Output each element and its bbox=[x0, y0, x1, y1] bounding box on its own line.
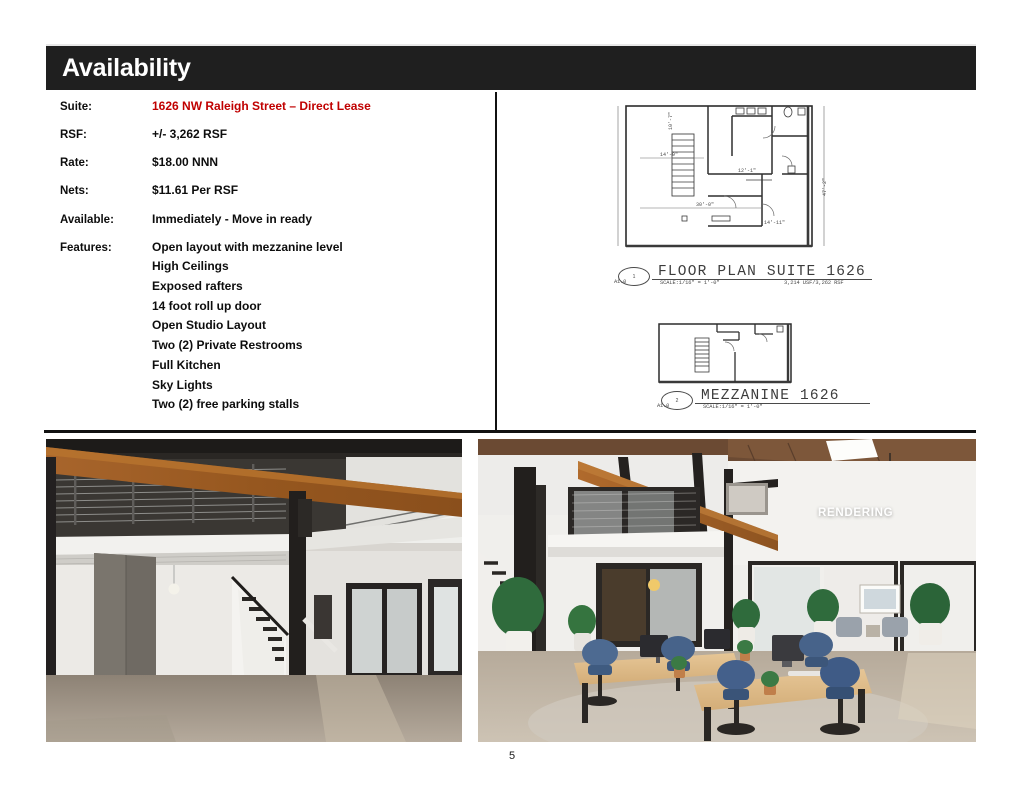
feature-item: 14 foot roll up door bbox=[152, 300, 343, 313]
spec-value-nets: $11.61 Per RSF bbox=[152, 184, 238, 197]
spec-row-rsf: RSF: +/- 3,262 RSF bbox=[60, 128, 480, 142]
spec-value-rate: $18.00 NNN bbox=[152, 156, 218, 169]
svg-text:14'-11": 14'-11" bbox=[764, 220, 785, 226]
floor-plan-scale: SCALE:1/16" = 1'-0" bbox=[660, 280, 720, 286]
spec-label-available: Available: bbox=[60, 213, 152, 227]
interior-photo bbox=[46, 439, 462, 742]
office-rendering-image bbox=[478, 439, 976, 742]
feature-item: Full Kitchen bbox=[152, 359, 343, 372]
feature-item: Sky Lights bbox=[152, 379, 343, 392]
office-rendering bbox=[478, 439, 976, 742]
floor-plan-caption: 1 A1.0 FLOOR PLAN SUITE 1626 SCALE:1/16"… bbox=[612, 266, 872, 292]
vertical-divider bbox=[495, 92, 497, 430]
floor-plan-title: FLOOR PLAN SUITE 1626 bbox=[658, 264, 866, 280]
feature-item: Open layout with mezzanine level bbox=[152, 241, 343, 254]
mezzanine-plan-caption: 2 A1.0 MEZZANINE 1626 SCALE:1/16" = 1'-0… bbox=[655, 390, 870, 416]
spec-row-suite: Suite: 1626 NW Raleigh Street – Direct L… bbox=[60, 100, 480, 114]
spec-row-rate: Rate: $18.00 NNN bbox=[60, 156, 480, 170]
mezzanine-plan-block: 2 A1.0 MEZZANINE 1626 SCALE:1/16" = 1'-0… bbox=[655, 318, 870, 416]
feature-item: Two (2) free parking stalls bbox=[152, 398, 343, 411]
svg-text:30'-0": 30'-0" bbox=[696, 202, 714, 208]
spec-value-rsf: +/- 3,262 RSF bbox=[152, 128, 227, 141]
spec-value-suite: 1626 NW Raleigh Street – Direct Lease bbox=[152, 100, 371, 113]
horizontal-rule bbox=[44, 430, 976, 433]
spec-row-features: Features: Open layout with mezzanine lev… bbox=[60, 241, 480, 412]
floor-plan-area: 3,214 USF/3,262 RSF bbox=[784, 280, 844, 286]
spec-label-suite: Suite: bbox=[60, 100, 152, 114]
svg-text:10'-7": 10'-7" bbox=[668, 112, 674, 130]
header-bar: Availability bbox=[46, 46, 976, 90]
floor-plan-block: 14'-9" 30'-0" 12'-1" 14'-11" 10'-7" 47'-… bbox=[612, 96, 872, 292]
mezzanine-plan-drawing bbox=[655, 318, 805, 388]
svg-text:14'-9": 14'-9" bbox=[660, 152, 678, 158]
svg-text:12'-1": 12'-1" bbox=[738, 168, 756, 174]
feature-item: High Ceilings bbox=[152, 260, 343, 273]
page-title: Availability bbox=[46, 56, 191, 81]
spec-row-available: Available: Immediately - Move in ready bbox=[60, 213, 480, 227]
features-list: Open layout with mezzanine level High Ce… bbox=[152, 241, 343, 412]
slide-page: Availability Suite: 1626 NW Raleigh Stre… bbox=[0, 0, 1024, 791]
svg-text:47'-2": 47'-2" bbox=[822, 178, 828, 196]
feature-item: Two (2) Private Restrooms bbox=[152, 339, 343, 352]
spec-label-rsf: RSF: bbox=[60, 128, 152, 142]
rendering-label: RENDERING bbox=[818, 507, 893, 519]
spec-row-nets: Nets: $11.61 Per RSF bbox=[60, 184, 480, 198]
floor-plan-drawing: 14'-9" 30'-0" 12'-1" 14'-11" 10'-7" 47'-… bbox=[612, 96, 842, 264]
mezzanine-plan-scale: SCALE:1/16" = 1'-0" bbox=[703, 404, 763, 410]
spec-value-available: Immediately - Move in ready bbox=[152, 213, 312, 226]
sheet-number: A1.0 bbox=[657, 403, 669, 409]
availability-spec-list: Suite: 1626 NW Raleigh Street – Direct L… bbox=[60, 100, 480, 426]
mezzanine-plan-title: MEZZANINE 1626 bbox=[701, 388, 840, 404]
feature-item: Exposed rafters bbox=[152, 280, 343, 293]
interior-photo-image bbox=[46, 439, 462, 742]
spec-label-rate: Rate: bbox=[60, 156, 152, 170]
spec-label-nets: Nets: bbox=[60, 184, 152, 198]
sheet-number: A1.0 bbox=[614, 279, 626, 285]
feature-item: Open Studio Layout bbox=[152, 319, 343, 332]
page-number: 5 bbox=[0, 750, 1024, 762]
spec-label-features: Features: bbox=[60, 241, 152, 255]
